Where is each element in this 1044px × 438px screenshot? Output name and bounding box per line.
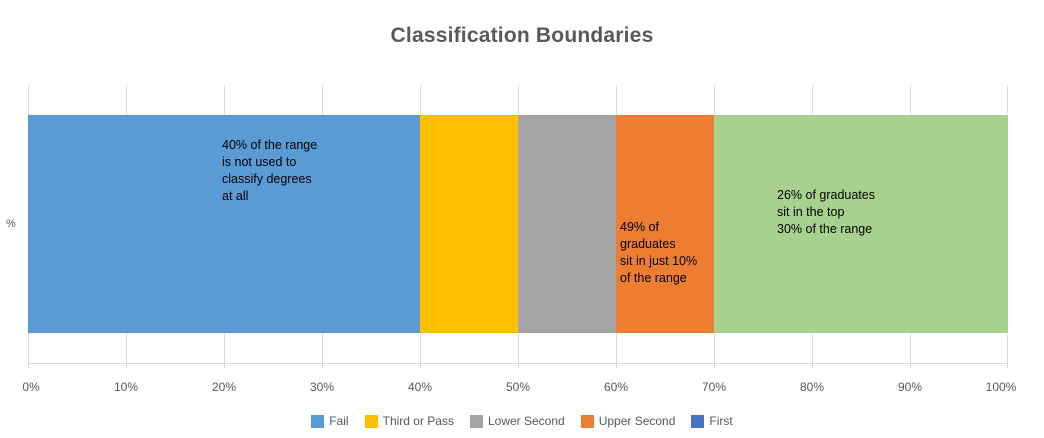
x-tick-10 (126, 363, 127, 368)
legend-label-fail: Fail (329, 414, 348, 428)
plot-area: 40% of the range is not used to classify… (28, 85, 1008, 363)
bar-segment-first[interactable]: 26% of graduates sit in the top 30% of t… (714, 115, 1008, 333)
legend-item-fail[interactable]: Fail (311, 414, 348, 428)
legend-label-third-or-pass: Third or Pass (383, 414, 454, 428)
legend-item-third-or-pass[interactable]: Third or Pass (365, 414, 454, 428)
x-tick-30 (322, 363, 323, 368)
bar-segment-lower-second[interactable] (518, 115, 616, 333)
x-tick-label-100: 100% (986, 380, 1017, 394)
x-tick-label-20: 20% (212, 380, 236, 394)
x-tick-40 (420, 363, 421, 368)
annotation-upper-second-note: 49% of graduates sit in just 10% of the … (620, 219, 697, 287)
legend-swatch-first (691, 415, 704, 428)
legend-item-lower-second[interactable]: Lower Second (470, 414, 565, 428)
bar-segment-third-or-pass[interactable] (420, 115, 518, 333)
legend-swatch-third-or-pass (365, 415, 378, 428)
y-axis-label: % (6, 218, 16, 230)
x-tick-90 (910, 363, 911, 368)
x-tick-70 (714, 363, 715, 368)
x-tick-50 (518, 363, 519, 368)
bar-segment-fail[interactable]: 40% of the range is not used to classify… (28, 115, 420, 333)
x-tick-label-70: 70% (702, 380, 726, 394)
x-tick-label-60: 60% (604, 380, 628, 394)
legend-item-upper-second[interactable]: Upper Second (581, 414, 676, 428)
legend-item-first[interactable]: First (691, 414, 732, 428)
x-tick-label-90: 90% (898, 380, 922, 394)
legend-swatch-lower-second (470, 415, 483, 428)
chart-title: Classification Boundaries (0, 24, 1044, 48)
x-tick-label-30: 30% (310, 380, 334, 394)
x-tick-label-50: 50% (506, 380, 530, 394)
annotation-first-note: 26% of graduates sit in the top 30% of t… (777, 187, 875, 238)
legend: Fail Third or Pass Lower Second Upper Se… (0, 414, 1044, 428)
legend-label-upper-second: Upper Second (599, 414, 676, 428)
x-tick-60 (616, 363, 617, 368)
x-tick-0 (28, 363, 29, 368)
x-tick-label-10: 10% (114, 380, 138, 394)
x-tick-label-80: 80% (800, 380, 824, 394)
x-tick-100 (1007, 363, 1008, 368)
x-tick-label-0: 0% (22, 380, 39, 394)
stacked-bar: 40% of the range is not used to classify… (28, 115, 1008, 333)
legend-swatch-fail (311, 415, 324, 428)
x-tick-80 (812, 363, 813, 368)
x-tick-label-40: 40% (408, 380, 432, 394)
bar-segment-upper-second[interactable]: 49% of graduates sit in just 10% of the … (616, 115, 714, 333)
annotation-fail-note: 40% of the range is not used to classify… (222, 137, 317, 205)
legend-label-first: First (709, 414, 732, 428)
legend-swatch-upper-second (581, 415, 594, 428)
legend-label-lower-second: Lower Second (488, 414, 565, 428)
x-tick-20 (224, 363, 225, 368)
